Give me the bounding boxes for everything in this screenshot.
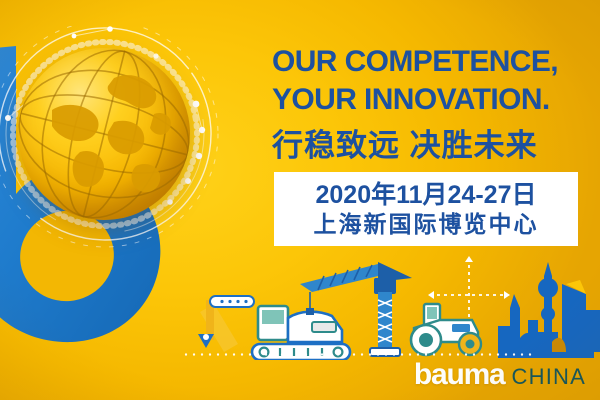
machinery-illustrations [0,248,600,360]
shanghai-skyline-illustration [498,262,600,358]
globe-sphere [18,48,190,220]
chinese-slogan: 行稳致远 决胜未来 [272,126,584,166]
headline-block: OUR COMPETENCE, YOUR INNOVATION. 行稳致远 决胜… [272,44,584,166]
excavator-illustration [252,306,350,360]
date-venue-box: 2020年11月24-27日 上海新国际博览中心 [274,172,578,246]
road-roller-illustration [411,304,481,355]
bauma-china-logo: bauma CHINA [414,358,586,392]
event-date: 2020年11月24-27日 [316,181,537,210]
dotted-ground-line [182,353,534,356]
headline-line-2: YOUR INNOVATION. [272,82,584,118]
small-crane-illustration [198,296,254,352]
event-venue: 上海新国际博览中心 [314,210,539,238]
golden-3d-globe [0,26,220,258]
headline-line-1: OUR COMPETENCE, [272,44,584,80]
logo-bauma-text: bauma [414,358,505,392]
bauma-china-banner: OUR COMPETENCE, YOUR INNOVATION. 行稳致远 决胜… [0,0,600,400]
logo-china-text: CHINA [512,364,586,390]
